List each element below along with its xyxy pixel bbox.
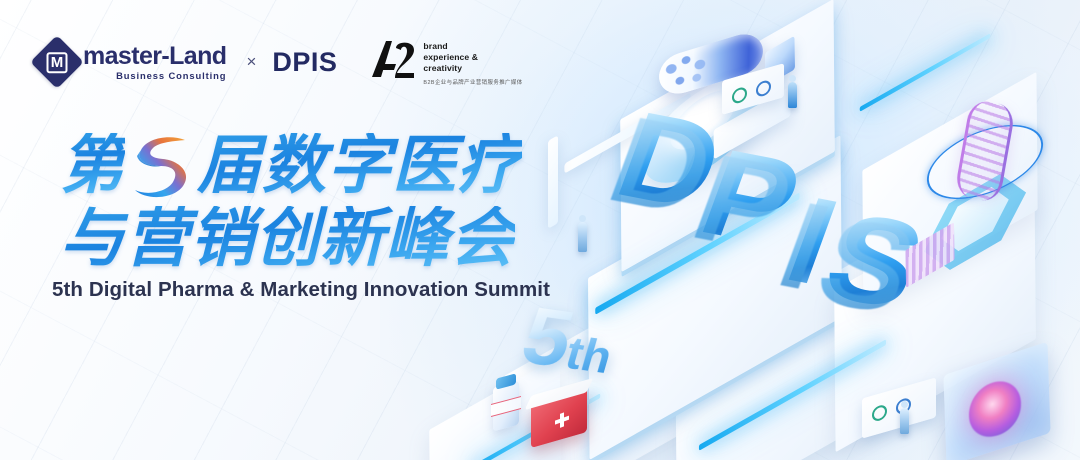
a2-tagline-line3: creativity <box>423 63 522 74</box>
event-banner: D P I S 5th <box>0 0 1080 460</box>
master-land-m-letter: M <box>47 52 68 73</box>
dna-helix-display <box>910 98 1070 248</box>
medical-cross-icon <box>555 411 569 430</box>
a2-taglines: brand experience & creativity B2B企业与品牌产业… <box>423 39 522 86</box>
headline-suffix: 届数字医疗 <box>197 133 522 197</box>
person-figure-bottom <box>900 408 909 434</box>
a2-tagline-line1: brand <box>423 41 522 52</box>
headline-line-2: 与营销创新峰会 <box>60 206 580 270</box>
master-land-name: master-Land <box>83 44 226 69</box>
first-aid-lid <box>525 378 594 410</box>
a2-mark-icon <box>370 39 416 79</box>
first-aid-box <box>531 388 587 448</box>
headline-block: 第 <box>60 128 580 270</box>
headline-line2-text: 与营销创新峰会 <box>60 206 515 270</box>
a2-chinese-tagline: B2B企业与品牌产业营销服务推广媒体 <box>423 78 522 86</box>
master-land-tagline: Business Consulting <box>83 71 226 80</box>
info-sign-icon-left <box>872 403 887 422</box>
headline-prefix: 第 <box>60 133 125 197</box>
bottle-cap <box>496 373 516 389</box>
dpis-logo[interactable]: DPIS <box>272 47 337 78</box>
glass-cube-display <box>935 352 1065 460</box>
master-land-wordmark: master-Land Business Consulting <box>83 44 226 80</box>
medical-props <box>485 382 615 460</box>
master-land-logo[interactable]: M master-Land Business Consulting <box>38 43 226 81</box>
stylized-five-numeral <box>125 128 199 202</box>
a2-tagline-line2: experience & <box>423 52 522 63</box>
medicine-bottle <box>493 381 519 432</box>
bottle-label <box>491 396 521 417</box>
logo-separator-x: × <box>246 52 256 72</box>
master-land-diamond-icon: M <box>30 35 84 89</box>
headline-subtitle: 5th Digital Pharma & Marketing Innovatio… <box>52 278 550 302</box>
logo-row: M master-Land Business Consulting × DPIS… <box>38 36 523 88</box>
headline-line-1: 第 <box>60 128 580 202</box>
a2-logo[interactable]: brand experience & creativity B2B企业与品牌产业… <box>370 39 522 86</box>
